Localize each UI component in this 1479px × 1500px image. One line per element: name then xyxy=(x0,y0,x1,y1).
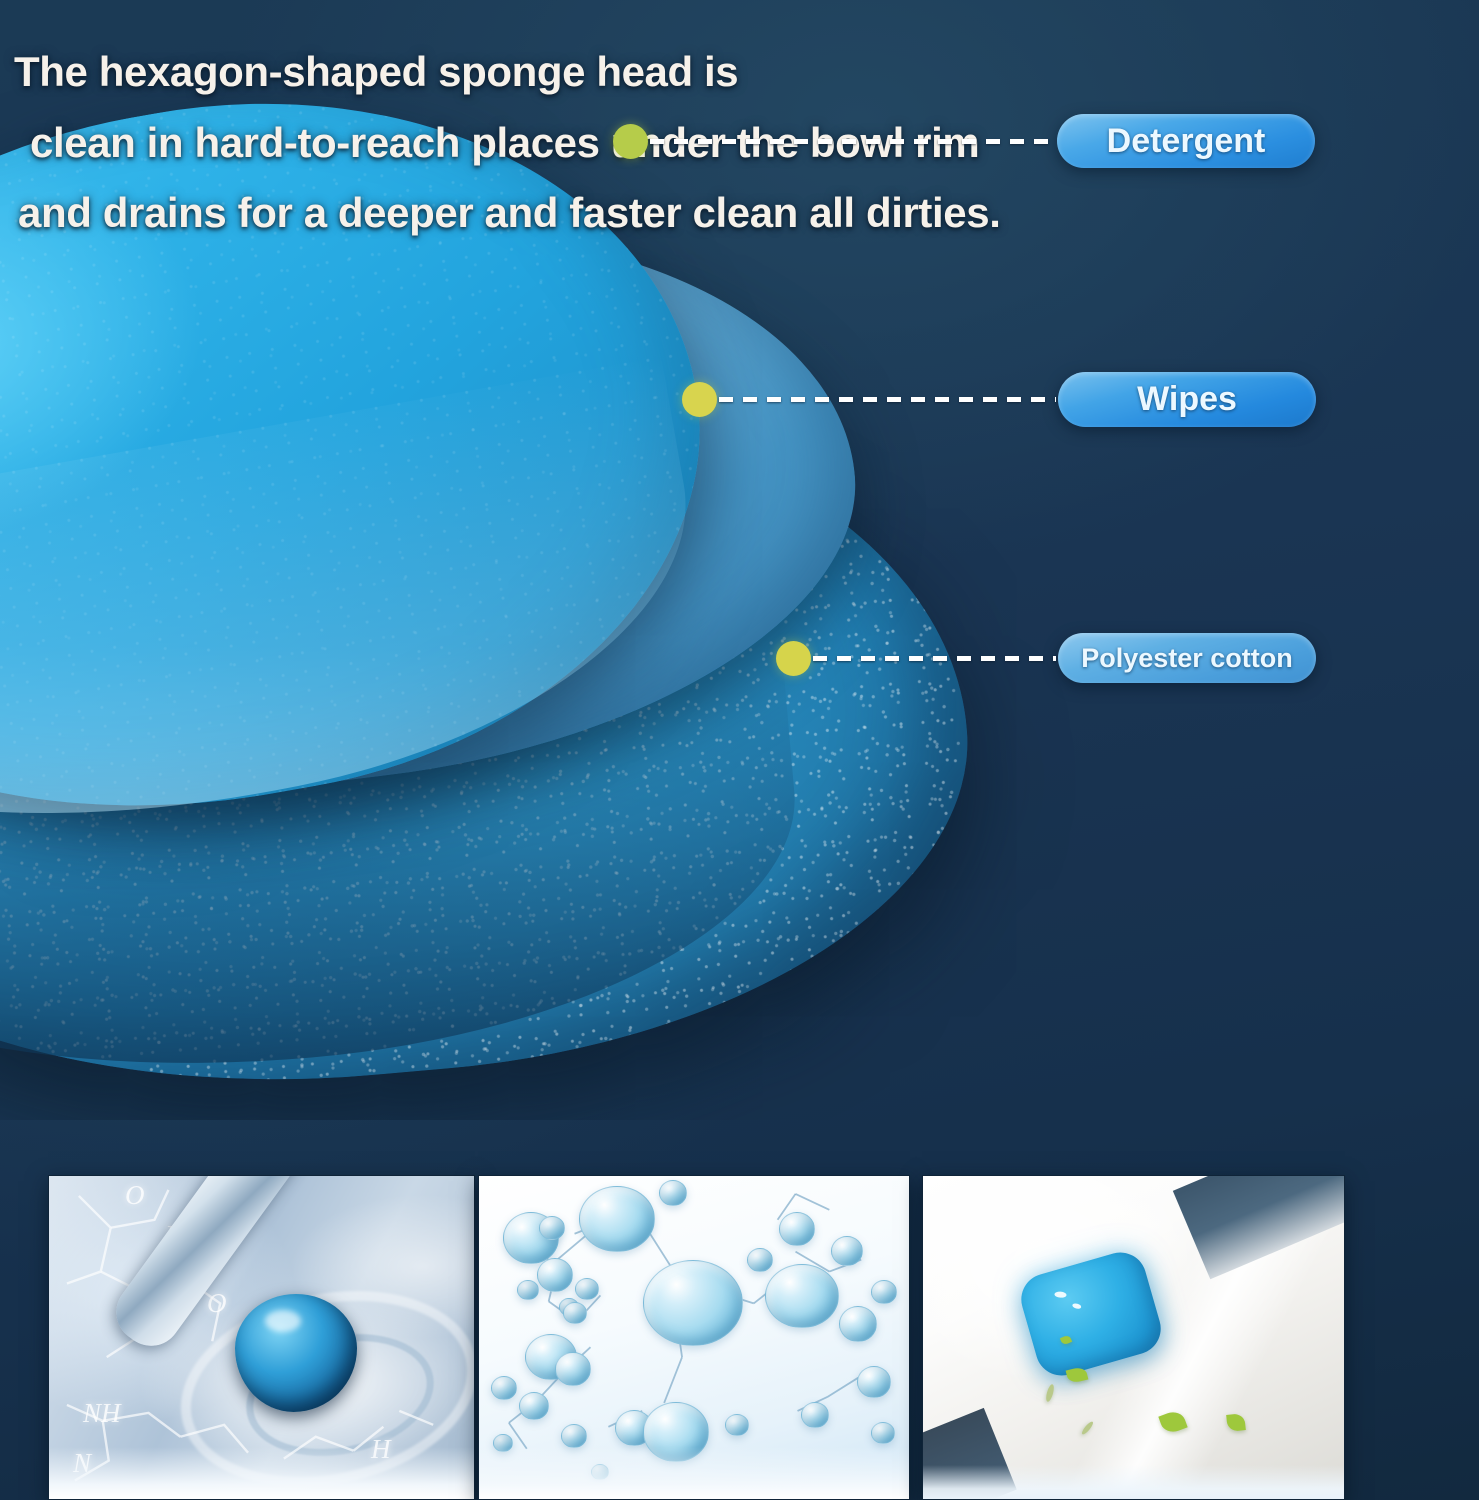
photo2-bottom-fade xyxy=(479,1447,909,1499)
molecule-sphere xyxy=(725,1414,749,1436)
product-infographic-page: The hexagon-shaped sponge head is clean … xyxy=(0,0,1479,1500)
callout-line-detergent xyxy=(650,139,1055,144)
molecule-sphere xyxy=(561,1424,587,1448)
photo-gel-block-bowl[interactable] xyxy=(922,1175,1345,1500)
molecule-sphere xyxy=(555,1352,591,1386)
molecule-sphere xyxy=(643,1260,743,1346)
callout-dot-polyester xyxy=(776,641,811,676)
molecule-sphere xyxy=(831,1236,863,1266)
molecule-sphere xyxy=(537,1258,573,1292)
callout-dot-detergent xyxy=(613,124,648,159)
molecule-sphere xyxy=(563,1302,587,1324)
callout-detergent: Detergent xyxy=(613,114,1315,168)
molecule-sphere xyxy=(539,1216,565,1240)
molecule-sphere xyxy=(765,1264,839,1328)
callout-dot-wipes xyxy=(682,382,717,417)
molecule-sphere xyxy=(491,1376,517,1400)
callout-wipes: Wipes xyxy=(682,372,1316,427)
photo1-glyph-O3: O xyxy=(207,1288,227,1319)
callout-label-polyester[interactable]: Polyester cotton xyxy=(1058,633,1316,683)
photo3-gel-highlight xyxy=(1054,1291,1066,1298)
callout-line-polyester xyxy=(813,656,1056,661)
molecule-sphere xyxy=(839,1306,877,1342)
photo3-bottom-fade xyxy=(923,1465,1344,1499)
molecule-sphere xyxy=(579,1186,655,1252)
callout-line-wipes xyxy=(719,397,1056,402)
molecule-sphere xyxy=(519,1392,549,1420)
photo-strip: O N O O NH N H xyxy=(0,1175,1479,1500)
product-layers-illustration xyxy=(0,0,1479,1120)
molecule-sphere xyxy=(857,1366,891,1398)
photo3-gel-highlight xyxy=(1072,1303,1082,1310)
photo-water-molecules[interactable] xyxy=(478,1175,910,1500)
photo-pipette-droplet[interactable]: O N O O NH N H xyxy=(48,1175,475,1500)
molecule-sphere xyxy=(801,1402,829,1428)
molecule-sphere xyxy=(871,1280,897,1304)
molecule-sphere xyxy=(747,1248,773,1272)
molecule-sphere xyxy=(517,1280,539,1300)
callout-label-wipes[interactable]: Wipes xyxy=(1058,372,1316,427)
photo1-bottom-fade xyxy=(49,1447,474,1499)
molecule-sphere xyxy=(779,1212,815,1246)
photo1-glyph-O1: O xyxy=(125,1180,145,1211)
photo1-glyph-NH: NH xyxy=(83,1398,121,1429)
callout-polyester: Polyester cotton xyxy=(776,633,1316,683)
molecule-sphere xyxy=(871,1422,895,1444)
callout-label-detergent[interactable]: Detergent xyxy=(1057,114,1315,168)
molecule-sphere xyxy=(659,1180,687,1206)
photo1-droplet-highlight xyxy=(265,1310,301,1332)
molecule-sphere xyxy=(575,1278,599,1300)
